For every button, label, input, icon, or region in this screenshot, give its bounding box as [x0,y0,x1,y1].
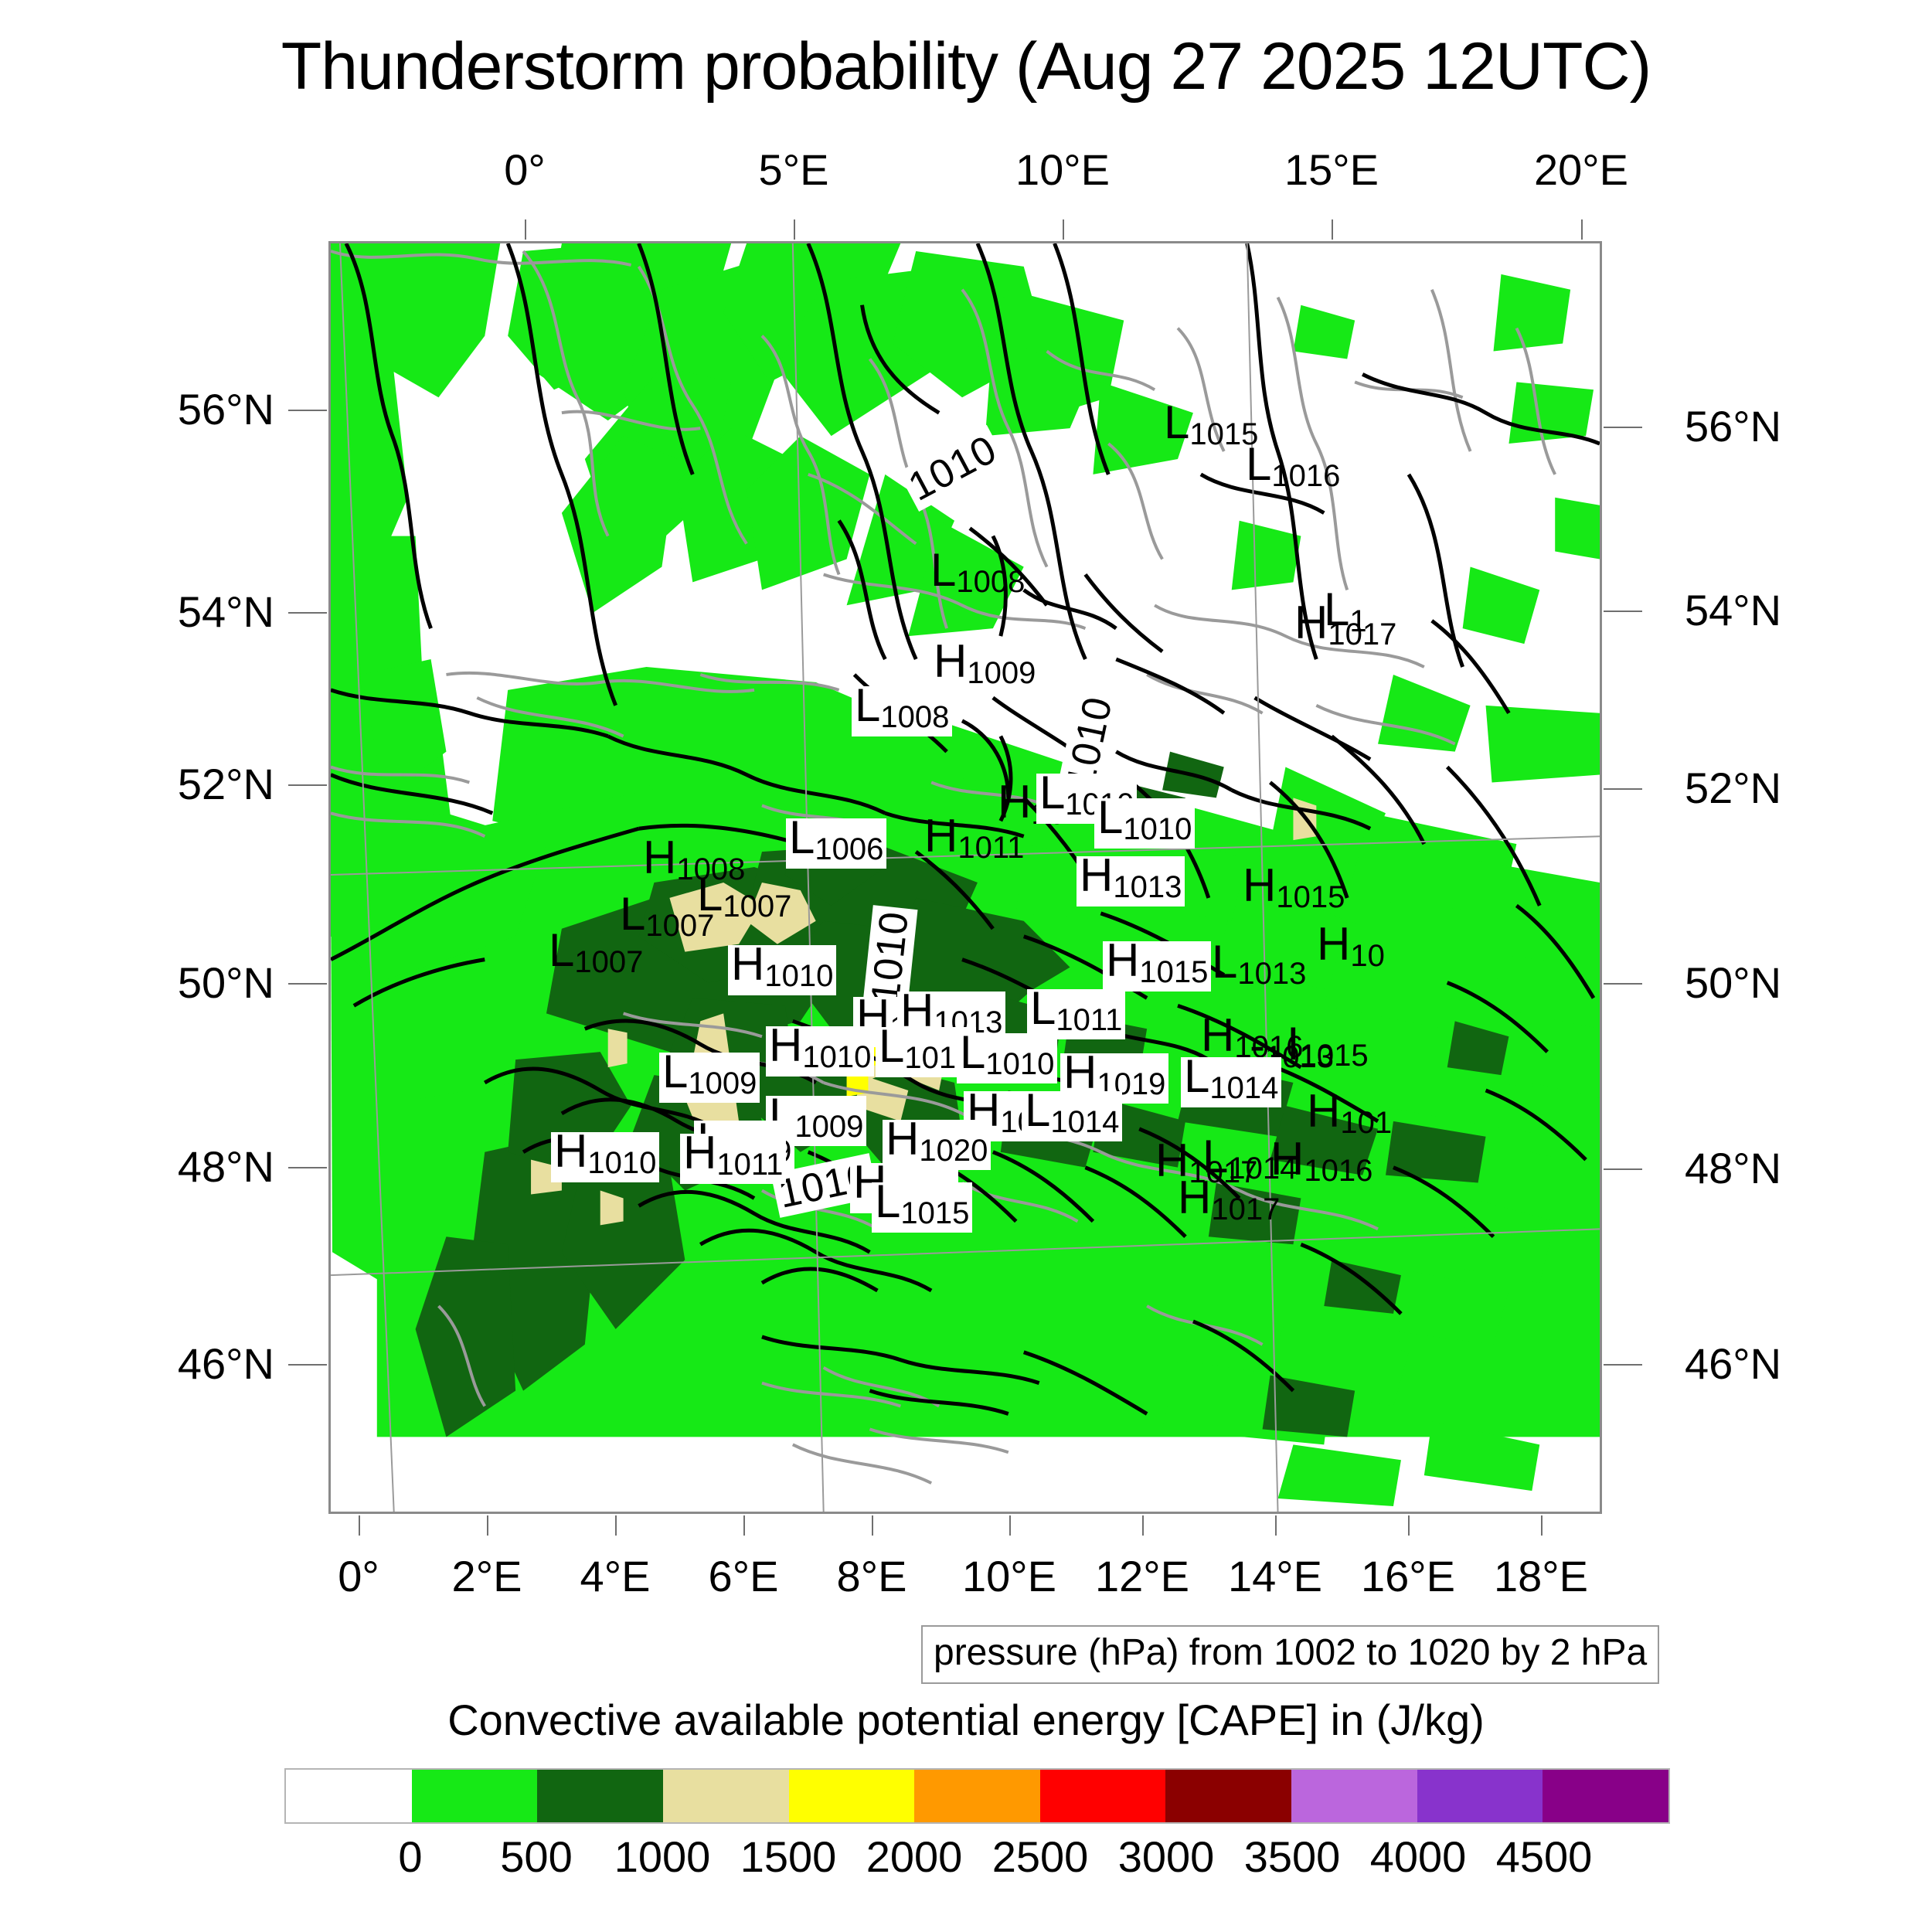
colorbar-tick-3500: 3500 [1244,1833,1341,1881]
axis-tick-left-2 [288,784,327,786]
pressure-centre-l-1015-46: L1015 [872,1182,972,1233]
colorbar-tick-2500: 2500 [992,1833,1089,1881]
colorbar-caption: Convective available potential energy [C… [0,1696,1932,1744]
axis-tick-top-0 [525,219,526,240]
colorbar-swatch-6[interactable] [1040,1770,1166,1822]
pressure-centre-l-1010-9: L1010 [1094,798,1195,849]
axis-label-bottom-6: 12°E [1095,1553,1189,1600]
axis-label-left-2: 52°N [178,761,274,808]
pressure-centre-i-1015-27: I1015 [1284,1025,1372,1075]
axis-tick-right-1 [1604,611,1642,612]
pressure-centre-l-1010-30: L1010 [957,1033,1057,1083]
pressure-centre-h-1011-40: H1011 [680,1134,786,1184]
axis-label-left-5: 46°N [178,1341,274,1387]
colorbar-tick-4000: 4000 [1370,1833,1467,1881]
pressure-centre-h-1015-20: H1015 [1103,941,1211,992]
colorbar-swatch-4[interactable] [789,1770,915,1822]
axis-tick-top-1 [794,219,795,240]
pressure-centre-l-1-4: L1 [1321,590,1370,641]
pressure-centre-h-1017-47: H1017 [1175,1179,1283,1229]
axis-tick-left-0 [288,410,327,411]
axis-label-bottom-0: 0° [338,1553,379,1600]
axis-label-top-4: 20°E [1534,147,1628,193]
axis-label-bottom-8: 16°E [1361,1553,1455,1600]
colorbar-tick-3000: 3000 [1118,1833,1215,1881]
pressure-centre-h-1009-5: H1009 [930,642,1039,692]
page-title: Thunderstorm probability (Aug 27 2025 12… [0,29,1932,104]
axis-label-right-2: 52°N [1685,765,1781,811]
colorbar-tick-1500: 1500 [740,1833,837,1881]
axis-label-left-4: 48°N [178,1144,274,1190]
axis-tick-bottom-1 [487,1515,488,1536]
axis-tick-bottom-4 [872,1515,873,1536]
axis-label-bottom-1: 2°E [452,1553,522,1600]
axis-tick-top-2 [1063,219,1064,240]
axis-label-right-5: 46°N [1685,1341,1781,1387]
axis-label-left-3: 50°N [178,960,274,1006]
axis-tick-bottom-5 [1009,1515,1011,1536]
axis-tick-bottom-6 [1142,1515,1144,1536]
pressure-centre-l-1014-35: L1014 [1022,1091,1122,1141]
pressure-centre-l-1011-22: L1011 [1027,989,1125,1039]
axis-label-bottom-4: 8°E [837,1553,907,1600]
pressure-centre-h-1010-41: H1010 [551,1132,659,1182]
colorbar-swatch-0[interactable] [286,1770,412,1822]
pressure-centre-l-1016-1: L1016 [1243,445,1343,495]
axis-tick-right-2 [1604,788,1642,790]
axis-label-top-3: 15°E [1284,147,1379,193]
colorbar-swatch-3[interactable] [663,1770,789,1822]
axis-label-right-0: 56°N [1685,403,1781,450]
axis-label-top-0: 0° [504,147,546,193]
pressure-centre-h-1010-28: H1010 [766,1026,874,1077]
axis-label-left-0: 56°N [178,386,274,433]
pressure-centre-h-1013-13: H1013 [1077,856,1185,906]
pressure-centre-h-1016-44: H1016 [1267,1140,1376,1190]
axis-label-bottom-5: 10°E [962,1553,1056,1600]
pressure-centre-h-1010-19: H1010 [728,945,836,995]
colorbar-swatch-10[interactable] [1543,1770,1668,1822]
colorbar-swatch-1[interactable] [412,1770,538,1822]
colorbar-swatch-7[interactable] [1165,1770,1291,1822]
pressure-centre-h-1011-11: H1011 [921,817,1027,867]
pressure-centre-l-1007-17: L1007 [546,931,646,981]
pressure-legend-note: pressure (hPa) from 1002 to 1020 by 2 hP… [921,1625,1659,1684]
axis-tick-bottom-9 [1541,1515,1543,1536]
axis-tick-left-5 [288,1364,327,1366]
axis-tick-bottom-7 [1275,1515,1277,1536]
axis-tick-bottom-2 [615,1515,617,1536]
colorbar-swatch-5[interactable] [914,1770,1040,1822]
map-plot-area[interactable]: 1010101010101010 L1015L1016L1008H1017L1H… [328,241,1602,1514]
axis-tick-bottom-0 [359,1515,360,1536]
axis-label-bottom-9: 18°E [1494,1553,1588,1600]
axis-label-right-1: 54°N [1685,587,1781,634]
pressure-centre-l-1008-2: L1008 [927,551,1028,601]
pressure-centre-l-1013-21: L1013 [1209,943,1309,993]
axis-label-top-2: 10°E [1015,147,1110,193]
colorbar-swatch-8[interactable] [1291,1770,1417,1822]
axis-tick-right-0 [1604,427,1642,428]
axis-label-right-4: 48°N [1685,1145,1781,1192]
axis-label-bottom-2: 4°E [580,1553,651,1600]
axis-tick-left-4 [288,1167,327,1168]
cape-colorbar[interactable] [284,1768,1670,1824]
axis-tick-top-4 [1581,219,1583,240]
axis-label-bottom-7: 14°E [1228,1553,1322,1600]
pressure-centre-l-1006-10: L1006 [786,818,886,869]
pressure-centre-h-10-18: H10 [1314,925,1388,975]
axis-tick-left-1 [288,612,327,614]
colorbar-tick-1000: 1000 [614,1833,711,1881]
axis-tick-right-5 [1604,1364,1642,1366]
axis-tick-left-3 [288,983,327,985]
colorbar-tick-0: 0 [398,1833,422,1881]
axis-tick-right-4 [1604,1168,1642,1170]
colorbar-tick-2000: 2000 [866,1833,963,1881]
axis-label-right-3: 50°N [1685,960,1781,1006]
colorbar-swatch-9[interactable] [1417,1770,1543,1822]
pressure-centre-h-101-37: H101 [1304,1092,1395,1142]
axis-tick-top-3 [1332,219,1333,240]
axis-label-left-1: 54°N [178,589,274,635]
pressure-centre-h-1015-14: H1015 [1240,866,1348,917]
axis-tick-right-3 [1604,983,1642,985]
axis-tick-bottom-3 [743,1515,745,1536]
axis-tick-bottom-8 [1408,1515,1410,1536]
colorbar-tick-500: 500 [500,1833,572,1881]
pressure-centre-l-1014-32: L1014 [1181,1057,1281,1107]
pressure-centre-l-1008-6: L1008 [852,686,952,736]
map-canvas [331,243,1600,1512]
colorbar-swatch-2[interactable] [537,1770,663,1822]
axis-label-bottom-3: 6°E [709,1553,779,1600]
colorbar-tick-4500: 4500 [1496,1833,1593,1881]
pressure-centre-l-1009-33: L1009 [659,1053,760,1103]
axis-label-top-1: 5°E [759,147,829,193]
colorbar-tick-labels: 050010001500200025003000350040004500 [284,1833,1670,1887]
